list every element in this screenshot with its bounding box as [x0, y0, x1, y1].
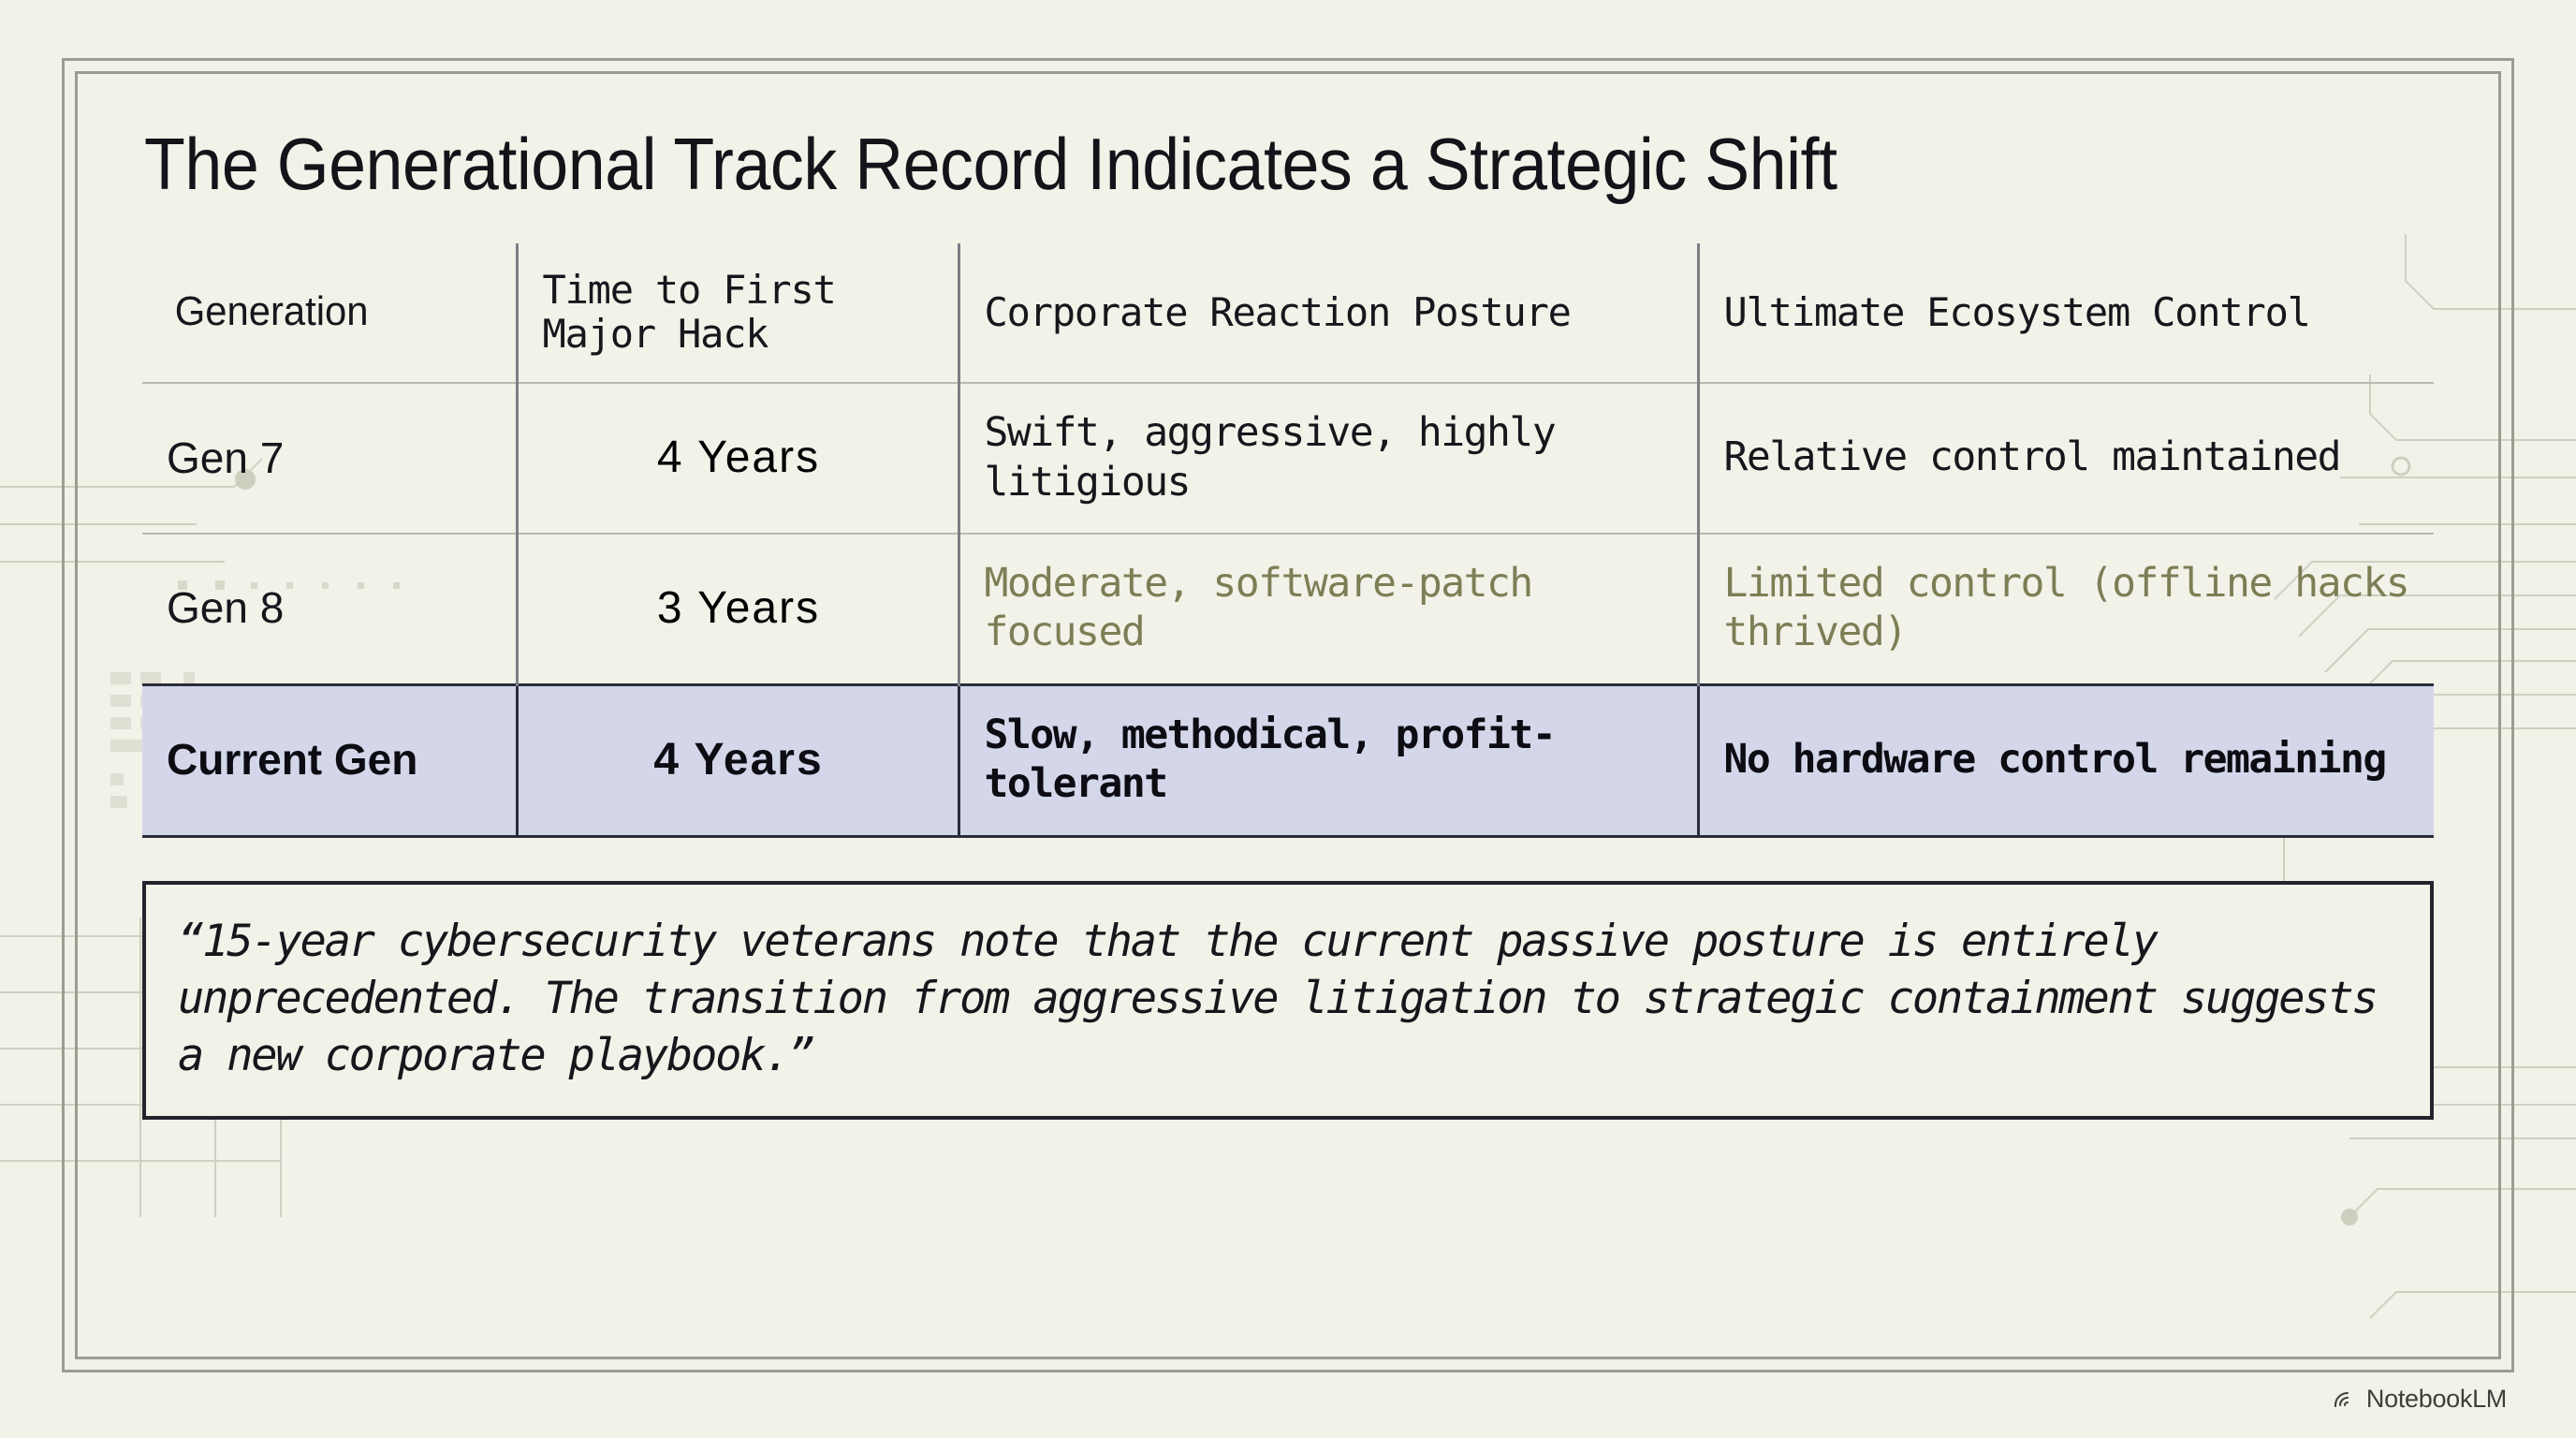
cell-generation: Current Gen	[142, 684, 517, 836]
generation-label: Gen 8	[167, 583, 284, 632]
cell-corporate-reaction-posture: Slow, methodical, profit-tolerant	[959, 684, 1698, 836]
column-header-time-to-first-major-hack: Time to First Major Hack	[517, 243, 959, 383]
time-value: 4 Years	[657, 433, 820, 482]
cell-corporate-reaction-posture: Moderate, software-patch focused	[959, 534, 1698, 684]
slide-content: The Generational Track Record Indicates …	[75, 71, 2501, 1359]
column-header-ultimate-ecosystem-control: Ultimate Ecosystem Control	[1698, 243, 2434, 383]
control-value: Limited control (offline hacks thrived)	[1724, 560, 2409, 655]
table-row-highlighted: Current Gen 4 Years Slow, methodical, pr…	[142, 684, 2434, 836]
cell-ultimate-ecosystem-control: Limited control (offline hacks thrived)	[1698, 534, 2434, 684]
cell-generation: Gen 8	[142, 534, 517, 684]
cell-time-to-first-major-hack: 4 Years	[517, 383, 959, 534]
brand-label: NotebookLM	[2366, 1385, 2507, 1414]
table-row: Gen 7 4 Years Swift, aggressive, highly …	[142, 383, 2434, 534]
cell-ultimate-ecosystem-control: Relative control maintained	[1698, 383, 2434, 534]
posture-value: Moderate, software-patch focused	[985, 560, 1532, 655]
cell-corporate-reaction-posture: Swift, aggressive, highly litigious	[959, 383, 1698, 534]
control-value: Relative control maintained	[1724, 433, 2340, 480]
cell-ultimate-ecosystem-control: No hardware control remaining	[1698, 684, 2434, 836]
generation-label: Current Gen	[167, 735, 417, 784]
time-value: 3 Years	[657, 583, 820, 633]
quote-text: “15-year cybersecurity veterans note tha…	[178, 913, 2398, 1084]
posture-value: Swift, aggressive, highly litigious	[985, 409, 1556, 505]
page-title: The Generational Track Record Indicates …	[144, 127, 2250, 200]
control-value: No hardware control remaining	[1724, 736, 2386, 783]
column-header-generation: Generation	[152, 243, 507, 383]
quote-callout-box: “15-year cybersecurity veterans note tha…	[142, 881, 2434, 1120]
table-header-row: Generation Time to First Major Hack Corp…	[142, 243, 2434, 383]
cell-time-to-first-major-hack: 3 Years	[517, 534, 959, 684]
cell-time-to-first-major-hack: 4 Years	[517, 684, 959, 836]
generation-label: Gen 7	[167, 433, 284, 482]
table-row: Gen 8 3 Years Moderate, software-patch f…	[142, 534, 2434, 684]
time-value: 4 Years	[653, 735, 823, 785]
posture-value: Slow, methodical, profit-tolerant	[985, 712, 1556, 807]
column-header-corporate-reaction-posture: Corporate Reaction Posture	[959, 243, 1698, 383]
cell-generation: Gen 7	[142, 383, 517, 534]
notebooklm-branding: NotebookLM	[2333, 1385, 2507, 1414]
notebooklm-spiral-icon	[2333, 1387, 2357, 1412]
generational-track-record-table: Generation Time to First Major Hack Corp…	[142, 243, 2434, 838]
